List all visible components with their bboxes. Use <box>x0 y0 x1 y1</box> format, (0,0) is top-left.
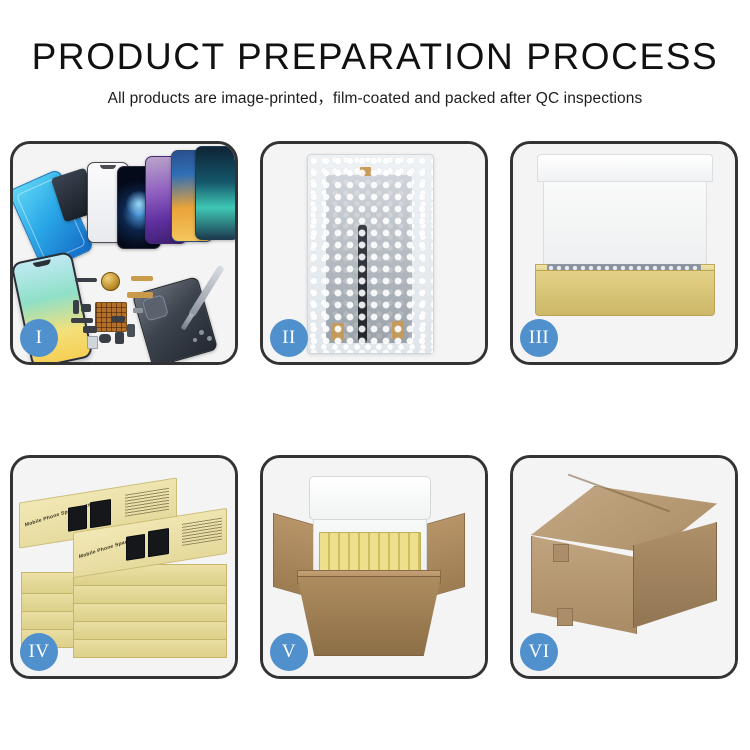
wrapped-lcd-screen <box>326 175 412 343</box>
process-step-1[interactable]: I <box>10 141 238 365</box>
carton-front-panel <box>531 536 637 634</box>
process-step-5[interactable]: V <box>260 455 488 679</box>
carton-body <box>297 576 441 656</box>
product-window <box>90 499 111 528</box>
styrofoam-lid <box>309 476 431 520</box>
step-badge-4: IV <box>20 633 58 671</box>
flex-cable-part <box>131 276 153 281</box>
process-step-grid: I II III <box>10 141 740 679</box>
screw <box>199 330 204 335</box>
white-box-lid-top <box>537 154 713 182</box>
spare-part <box>99 334 111 343</box>
product-window <box>148 528 169 557</box>
step-badge-5: V <box>270 633 308 671</box>
step-badge-2: II <box>270 319 308 357</box>
carton-tape-top <box>553 544 569 562</box>
spare-part <box>87 336 98 349</box>
spec-text-lines <box>182 518 222 546</box>
process-step-6[interactable]: VI <box>510 455 738 679</box>
page-title: PRODUCT PREPARATION PROCESS <box>0 34 750 80</box>
cable-connector <box>392 321 404 339</box>
screw <box>207 336 212 341</box>
step-badge-3: III <box>520 319 558 357</box>
spare-part <box>133 308 143 313</box>
cable-connector <box>332 323 344 341</box>
spare-part <box>71 318 93 323</box>
yellow-boxes-inside <box>319 532 421 572</box>
spare-part <box>81 304 91 312</box>
carton-tape-bottom <box>557 608 573 626</box>
process-step-2[interactable]: II <box>260 141 488 365</box>
spare-part <box>111 316 125 322</box>
spare-part <box>75 278 97 282</box>
screw <box>193 338 197 342</box>
spare-part <box>115 332 124 344</box>
vibration-motor-part <box>101 272 120 291</box>
flex-cable-part <box>127 292 153 298</box>
step-badge-1: I <box>20 319 58 357</box>
spare-part <box>73 300 79 314</box>
product-window <box>126 534 145 561</box>
page-header: PRODUCT PREPARATION PROCESS All products… <box>0 0 750 110</box>
page-subtitle: All products are image-printed，film-coat… <box>0 88 750 110</box>
spare-part <box>83 326 97 333</box>
bubble-wrap-bag <box>307 154 434 354</box>
process-step-4[interactable]: Mobile Phone Spare Parts Mobile Phone Sp… <box>10 455 238 679</box>
product-window <box>68 505 87 532</box>
spec-text-lines <box>125 488 169 517</box>
tape-piece <box>360 167 371 176</box>
screen-flex-cable <box>358 225 367 343</box>
spare-part <box>127 324 135 337</box>
step-badge-6: VI <box>520 633 558 671</box>
kraft-box-body <box>535 270 715 316</box>
process-step-3[interactable]: III <box>510 141 738 365</box>
phone-screen-teal <box>195 146 238 240</box>
